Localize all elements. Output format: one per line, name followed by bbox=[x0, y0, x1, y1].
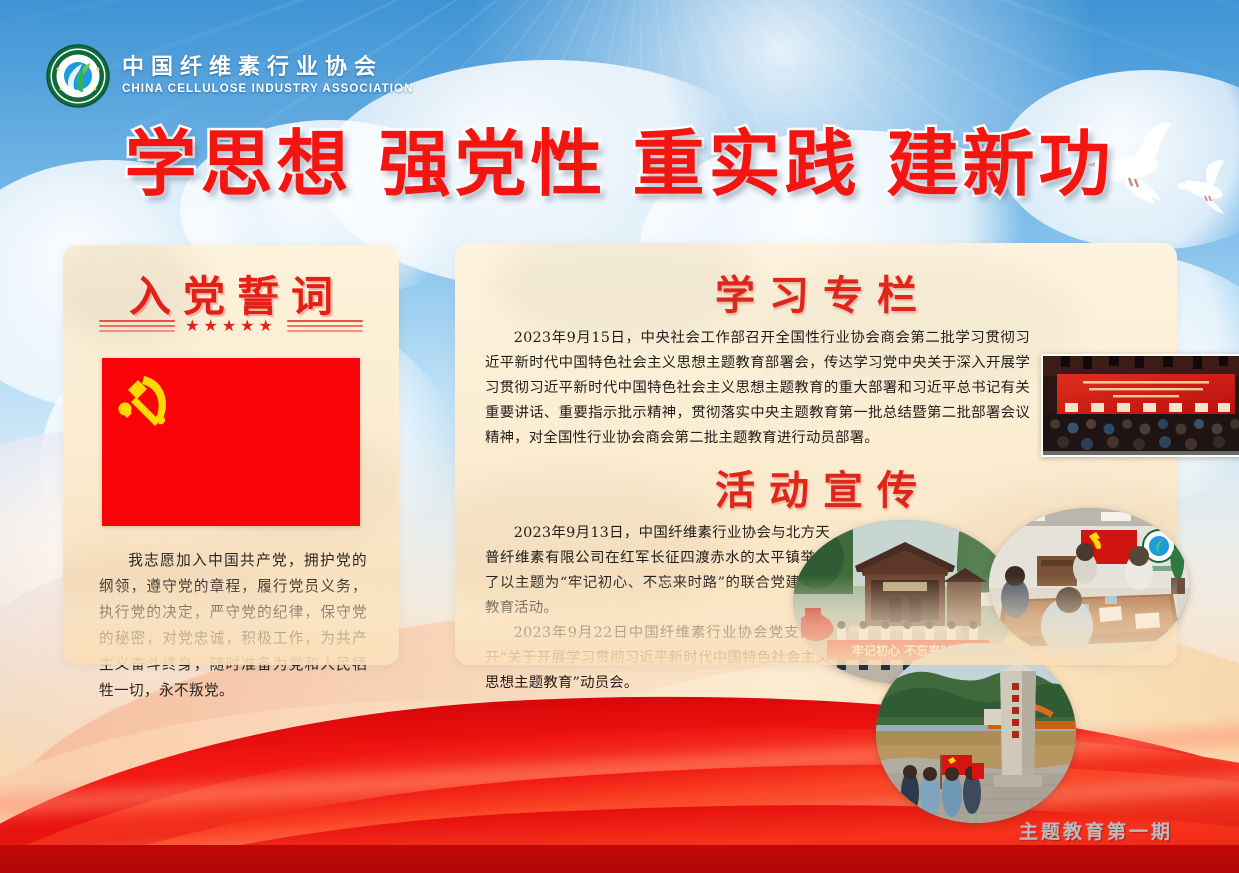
communist-party-flag-icon bbox=[102, 358, 360, 526]
title-part-2: 强党性 bbox=[378, 122, 606, 206]
oath-divider: ★★★★★ bbox=[63, 319, 399, 335]
five-stars: ★★★★★ bbox=[185, 319, 277, 335]
poster-canvas: 中国纤维素行业协会 CHINA CELLULOSE INDUSTRY ASSOC… bbox=[0, 0, 1239, 873]
page-title: 学思想强党性重实践建新功 bbox=[0, 128, 1239, 200]
monument-riverside-photo bbox=[876, 643, 1076, 823]
study-paragraph: 2023年9月15日，中央社会工作部召开全国性行业协会商会第二批学习贯彻习近平新… bbox=[485, 326, 1030, 451]
cellulose-association-emblem-icon bbox=[46, 44, 110, 108]
oath-panel-title: 入党誓词 bbox=[63, 263, 399, 324]
divider-line-right bbox=[287, 320, 363, 335]
activity-paragraphs: 2023年9月13日，中国纤维素行业协会与北方天普纤维素有限公司在红军长征四渡赤… bbox=[485, 521, 830, 696]
study-paragraph-text: 2023年9月15日，中央社会工作部召开全国性行业协会商会第二批学习贯彻习近平新… bbox=[485, 326, 1030, 451]
section-title-study: 学习专栏 bbox=[455, 263, 1177, 321]
title-part-1: 学思想 bbox=[124, 122, 352, 206]
logo-name-en: CHINA CELLULOSE INDUSTRY ASSOCIATION bbox=[122, 84, 414, 96]
divider-line-left bbox=[99, 320, 175, 335]
content-panel: 学习专栏 2023年9月15日，中央社会工作部召开全国性行业协会商会第二批学习贯… bbox=[455, 243, 1177, 665]
meeting-room-photo bbox=[989, 508, 1189, 660]
conference-hall-photo bbox=[1041, 354, 1239, 457]
logo-name-cn: 中国纤维素行业协会 bbox=[122, 56, 414, 78]
activity-paragraph-1: 2023年9月13日，中国纤维素行业协会与北方天普纤维素有限公司在红军长征四渡赤… bbox=[485, 521, 830, 621]
organization-logo: 中国纤维素行业协会 CHINA CELLULOSE INDUSTRY ASSOC… bbox=[46, 44, 414, 108]
title-part-3: 重实践 bbox=[633, 122, 861, 206]
oath-panel: 入党誓词 ★★★★★ 我志愿加入中国共产党， bbox=[63, 245, 399, 665]
activity-paragraph-2: 2023年9月22日中国纤维素行业协会党支部召开“关于开展学习贯彻习近平新时代中… bbox=[485, 621, 830, 696]
oath-text: 我志愿加入中国共产党，拥护党的纲领，遵守党的章程，履行党员义务，执行党的决定，严… bbox=[99, 548, 367, 704]
footer-label: 主题教育第一期 bbox=[1019, 817, 1173, 844]
section-title-activity: 活动宣传 bbox=[455, 458, 1177, 516]
title-part-4: 建新功 bbox=[887, 122, 1115, 206]
